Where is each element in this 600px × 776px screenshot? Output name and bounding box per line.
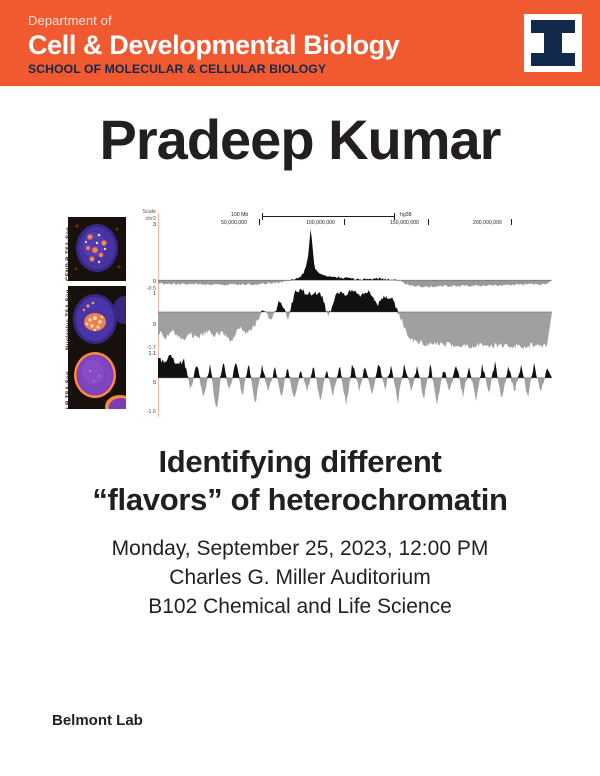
track-nucleolus-tsaseq bbox=[158, 289, 552, 351]
micrograph-panel-cenpb: CENP-B TSA-Seq bbox=[56, 217, 128, 283]
track0-ymax-label: 3 bbox=[130, 222, 156, 228]
scale-word-label: Scale bbox=[130, 209, 156, 215]
x-tick-mark-150m bbox=[428, 219, 429, 225]
talk-title: Identifying different “flavors” of heter… bbox=[0, 443, 600, 519]
event-details: Monday, September 25, 2023, 12:00 PM Cha… bbox=[0, 534, 600, 621]
department-title: Cell & Developmental Biology bbox=[28, 29, 488, 61]
speaker-name: Pradeep Kumar bbox=[0, 108, 600, 172]
event-datetime: Monday, September 25, 2023, 12:00 PM bbox=[0, 534, 600, 563]
track-cenpb-tsaseq bbox=[158, 227, 552, 289]
event-room: B102 Chemical and Life Science bbox=[0, 592, 600, 621]
illinois-block-i-logo bbox=[522, 12, 584, 74]
track-lb-tsaseq bbox=[158, 351, 552, 417]
talk-title-line-2: “flavors” of heterochromatin bbox=[0, 481, 600, 519]
x-tick-mark-200m bbox=[511, 219, 512, 225]
track2-ymin-label: -1.6 bbox=[130, 409, 156, 415]
research-figure: CENP-B TSA-Seq bbox=[56, 203, 552, 418]
talk-title-line-1: Identifying different bbox=[0, 443, 600, 481]
department-header-band: Department of Cell & Developmental Biolo… bbox=[0, 0, 600, 86]
track0-yzero-label: 0 bbox=[130, 279, 156, 285]
header-text-group: Department of Cell & Developmental Biolo… bbox=[28, 12, 488, 77]
scale-bar-label: 100 Mb bbox=[231, 212, 248, 218]
department-eyebrow: Department of bbox=[28, 12, 488, 29]
x-tick-label-150m: 150,000,000 bbox=[390, 220, 419, 226]
micrograph-panel-lb: LB TSA-Seq bbox=[56, 345, 128, 411]
track2-yzero-label: 0 bbox=[130, 380, 156, 386]
x-tick-label-50m: 50,000,000 bbox=[221, 220, 247, 226]
lab-name: Belmont Lab bbox=[52, 712, 143, 729]
x-tick-mark-50m bbox=[259, 219, 260, 225]
department-subtitle: SCHOOL OF MOLECULAR & CELLULAR BIOLOGY bbox=[28, 61, 488, 77]
x-tick-label-100m: 100,000,000 bbox=[306, 220, 335, 226]
micrograph-image-nucleolus bbox=[68, 286, 126, 350]
track1-yzero-label: 0 bbox=[130, 322, 156, 328]
scale-bar bbox=[262, 216, 395, 217]
event-venue: Charles G. Miller Auditorium bbox=[0, 563, 600, 592]
micrograph-image-lb bbox=[68, 345, 126, 409]
micrograph-column: CENP-B TSA-Seq bbox=[56, 203, 128, 418]
x-tick-label-200m: 200,000,000 bbox=[473, 220, 502, 226]
assembly-label: hg38 bbox=[400, 212, 412, 218]
genome-browser-panel: 100 Mb hg38 50,000,000 100,000,000 150,0… bbox=[128, 203, 552, 418]
micrograph-image-cenpb bbox=[68, 217, 126, 281]
track2-ymax-label: 1.1 bbox=[130, 351, 156, 357]
track1-ymax-label: 1 bbox=[130, 291, 156, 297]
x-tick-mark-100m bbox=[344, 219, 345, 225]
